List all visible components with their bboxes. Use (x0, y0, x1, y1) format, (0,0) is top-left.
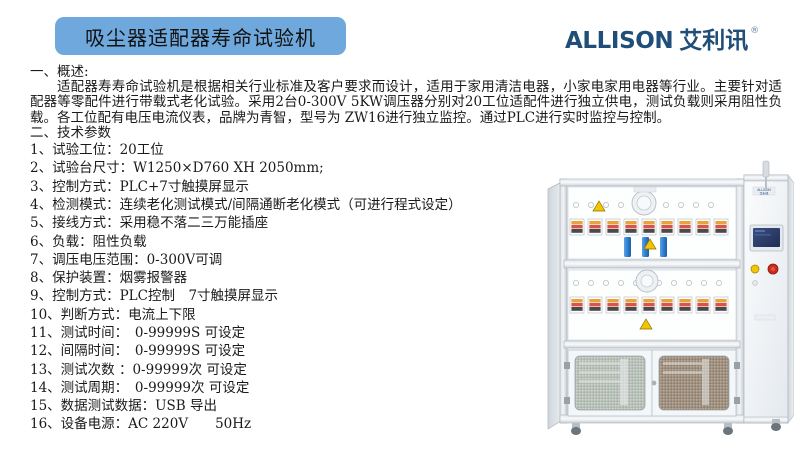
brand-name-cn: 艾利讯 (679, 30, 748, 53)
specs-heading: 二、技术参数 (30, 126, 782, 141)
socket-modules-upper (570, 219, 728, 235)
brand-logo: ALLISON 艾利讯 ® (565, 30, 759, 53)
svg-text:艾利讯: 艾利讯 (759, 191, 768, 196)
page-title: 吸尘器适配器寿命试验机 (85, 22, 316, 51)
status-indicator (751, 265, 759, 273)
registered-trademark-icon: ® (750, 26, 759, 36)
socket-modules-lower (570, 297, 728, 313)
overview-heading: 一、概述: (30, 65, 782, 80)
mesh-window-cabinet-doors (564, 350, 740, 416)
machine-photo: ALLISON 艾利讯 (472, 157, 794, 447)
lower-test-socket-row (568, 270, 736, 340)
plc-control-panel: ALLISON 艾利讯 (744, 175, 788, 423)
slide-page: 吸尘器适配器寿命试验机 ALLISON 艾利讯 ® 一、概述: 适配器寿寿命试验… (0, 0, 800, 450)
7-inch-touch-screen (750, 225, 783, 251)
upper-test-socket-row (568, 187, 736, 259)
overview-paragraph: 适配器寿寿命试验机是根据相关行业标准及客户要求而设计，适用于家用清洁电器，小家电… (30, 80, 782, 126)
page-title-banner: 吸尘器适配器寿命试验机 (55, 17, 346, 55)
brand-name-en: ALLISON (565, 30, 673, 53)
